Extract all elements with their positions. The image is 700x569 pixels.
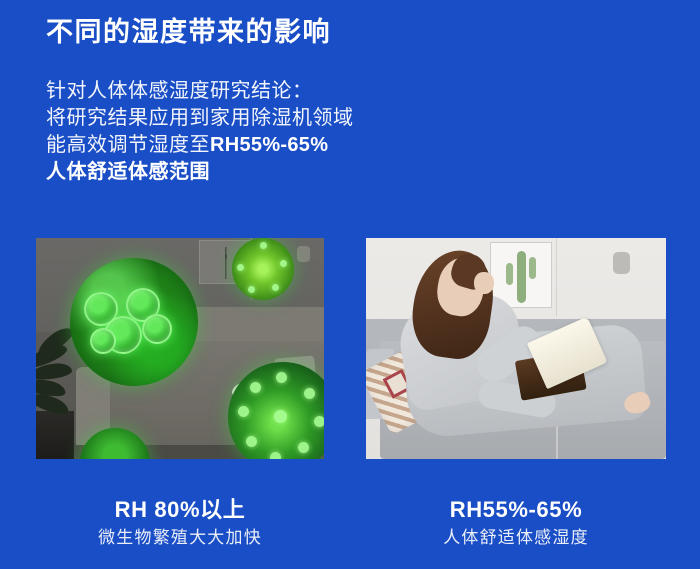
humidity-range-highlight: RH55%-65% — [210, 134, 328, 156]
microbe-spike — [314, 416, 324, 427]
body-copy: 针对人体体感湿度研究结论： 将研究结果应用到家用除湿机领域 能高效调节湿度至RH… — [46, 78, 354, 186]
microbe-cell — [142, 314, 172, 344]
body-line-2: 将研究结果应用到家用除湿机领域 — [46, 105, 354, 132]
microbe-spike — [238, 406, 249, 417]
body-line-3: 能高效调节湿度至RH55%-65% — [46, 132, 354, 159]
cactus-icon — [517, 251, 526, 303]
microbe-spike — [276, 372, 287, 383]
microbe-spike — [298, 442, 309, 453]
caption-right: RH55%-65% 人体舒适体感湿度 — [366, 495, 666, 551]
photo-left-microbes — [36, 238, 324, 459]
body-line-1: 针对人体体感湿度研究结论： — [46, 78, 354, 105]
caption-left-title: RH 80%以上 — [36, 495, 324, 525]
microbe-small-top — [232, 238, 294, 300]
body-line-3-prefix: 能高效调节湿度至 — [46, 134, 210, 156]
wall-thermostat-icon — [613, 252, 630, 274]
plant-pot — [36, 411, 74, 459]
microbe-spike — [248, 286, 255, 293]
photo-right-comfort — [366, 238, 666, 459]
microbe-spike — [274, 410, 287, 423]
microbe-cluster-large — [70, 258, 198, 386]
caption-left: RH 80%以上 微生物繁殖大大加快 — [36, 495, 324, 551]
photo-panels — [0, 238, 700, 459]
microbe-spike — [250, 382, 261, 393]
wall-thermostat-icon — [297, 246, 310, 262]
microbe-spike — [304, 388, 315, 399]
wall-divider-line — [556, 238, 557, 316]
caption-right-title: RH55%-65% — [366, 495, 666, 525]
microbe-spike — [237, 264, 244, 271]
microbe-spike — [280, 260, 287, 267]
page-title: 不同的湿度带来的影响 — [46, 16, 331, 50]
microbe-spike — [272, 284, 279, 291]
microbe-spike — [246, 436, 257, 447]
caption-left-subtitle: 微生物繁殖大大加快 — [36, 525, 324, 551]
slide-root: 不同的湿度带来的影响 针对人体体感湿度研究结论： 将研究结果应用到家用除湿机领域… — [0, 0, 700, 569]
microbe-spike — [270, 452, 281, 459]
woman-hand — [474, 272, 494, 294]
microbe-cell — [90, 328, 116, 354]
caption-right-subtitle: 人体舒适体感湿度 — [366, 525, 666, 551]
body-line-4: 人体舒适体感范围 — [46, 159, 354, 186]
microbe-spike — [260, 242, 267, 249]
captions-row: RH 80%以上 微生物繁殖大大加快 RH55%-65% 人体舒适体感湿度 — [0, 495, 700, 569]
